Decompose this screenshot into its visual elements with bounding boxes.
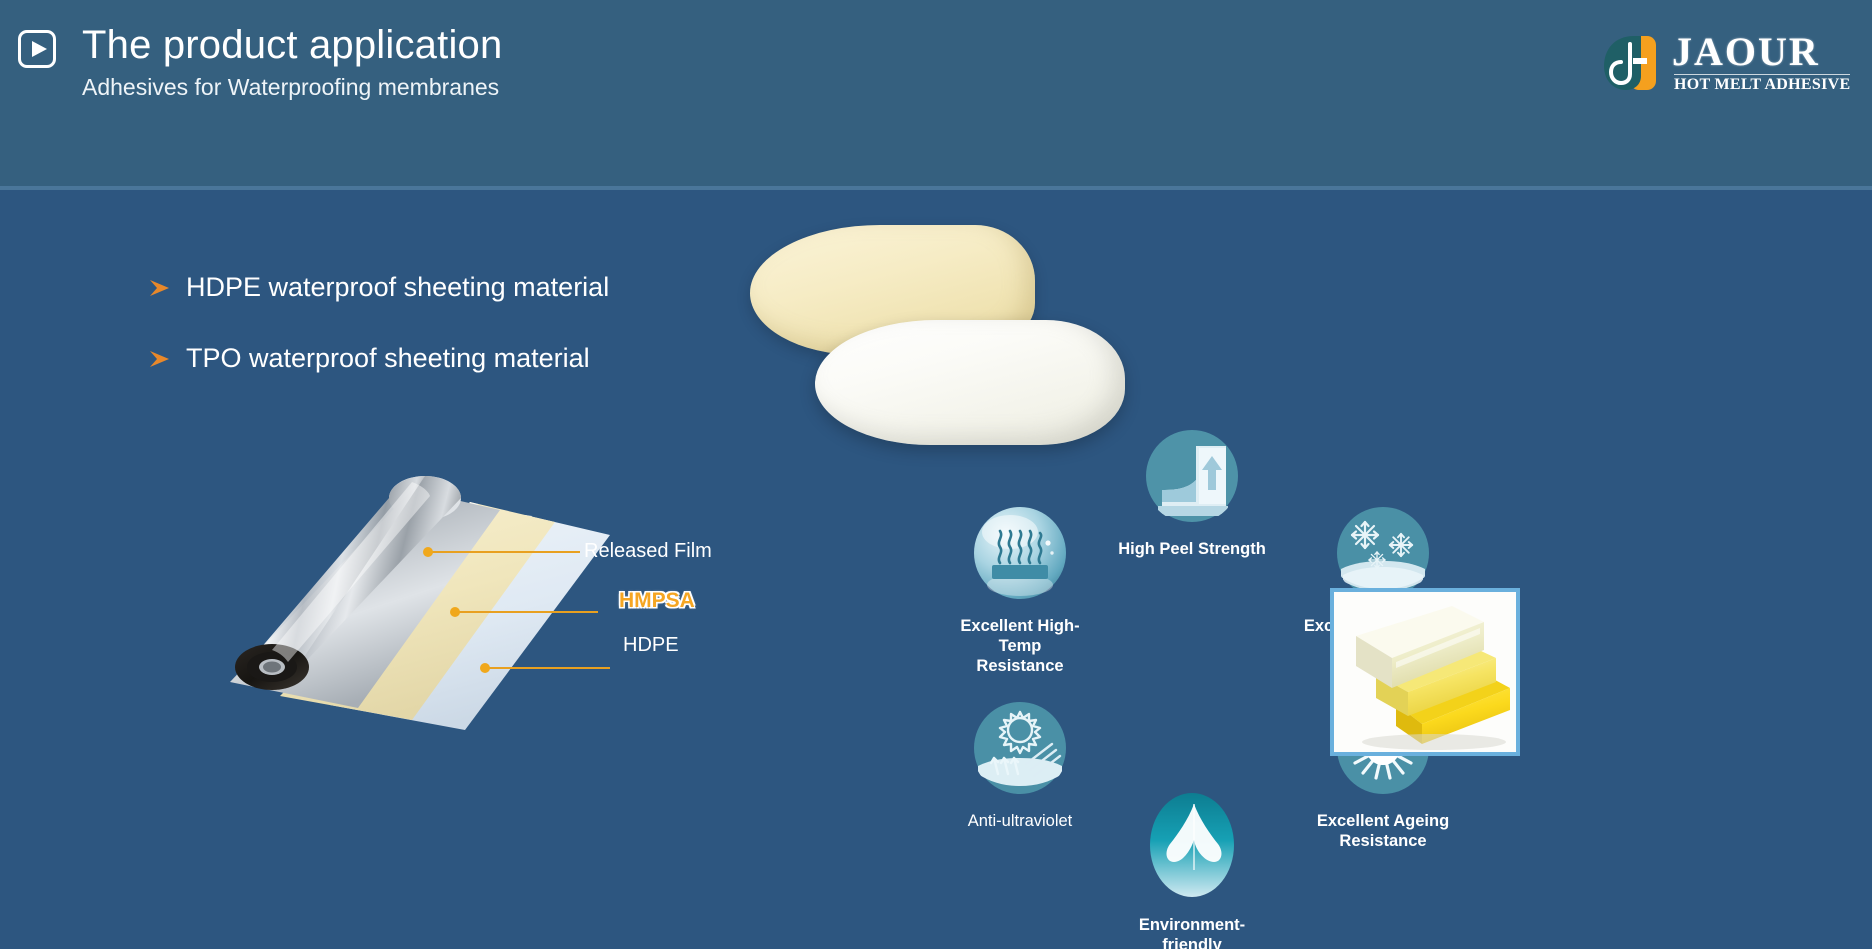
arrow-bullet-icon [148, 278, 172, 298]
page-subtitle: Adhesives for Waterproofing membranes [82, 74, 499, 101]
bullet-label: TPO waterproof sheeting material [186, 343, 590, 374]
adhesive-pillow-blocks-photo [740, 225, 1140, 435]
logo-wordmark: JAOUR [1672, 29, 1820, 75]
feature-label: Excellent High-Temp Resistance [940, 616, 1100, 676]
jaour-monogram-icon [1600, 32, 1662, 94]
white-adhesive-block [815, 320, 1125, 445]
slide-canvas: The product application Adhesives for Wa… [0, 0, 1872, 949]
sun-reflect-icon [972, 700, 1068, 796]
bullet-item-tpo: TPO waterproof sheeting material [148, 343, 590, 374]
feature-anti-uv: Anti-ultraviolet [940, 700, 1100, 831]
arrow-bullet-icon [148, 349, 172, 369]
logo-tagline: HOT MELT ADHESIVE [1674, 74, 1850, 94]
callout-label: HMPSA [619, 589, 695, 613]
heat-waves-icon [972, 505, 1068, 601]
callout-label: Released Film [584, 540, 712, 563]
page-title: The product application [82, 23, 502, 68]
feature-label: Anti-ultraviolet [940, 811, 1100, 831]
feature-environment-friendly: Environment-friendly [1112, 790, 1272, 949]
play-triangle-icon [32, 41, 47, 57]
leaf-drop-icon [1144, 790, 1240, 900]
play-square-icon [18, 30, 56, 68]
snowflake-icon [1335, 505, 1431, 601]
header-divider [0, 186, 1872, 190]
yellow-adhesive-blocks-photo [1330, 588, 1520, 756]
feature-label: Excellent Ageing Resistance [1288, 811, 1478, 851]
feature-label: High Peel Strength [1112, 539, 1272, 559]
bullet-label: HDPE waterproof sheeting material [186, 272, 609, 303]
callout-label: HDPE [623, 634, 679, 657]
brand-logo: JAOUR HOT MELT ADHESIVE [1600, 30, 1850, 98]
feature-label: Environment-friendly [1112, 915, 1272, 949]
feature-high-temp: Excellent High-Temp Resistance [940, 505, 1100, 676]
bullet-item-hdpe: HDPE waterproof sheeting material [148, 272, 609, 303]
peel-arrow-icon [1144, 428, 1240, 524]
feature-high-peel: High Peel Strength [1112, 428, 1272, 559]
